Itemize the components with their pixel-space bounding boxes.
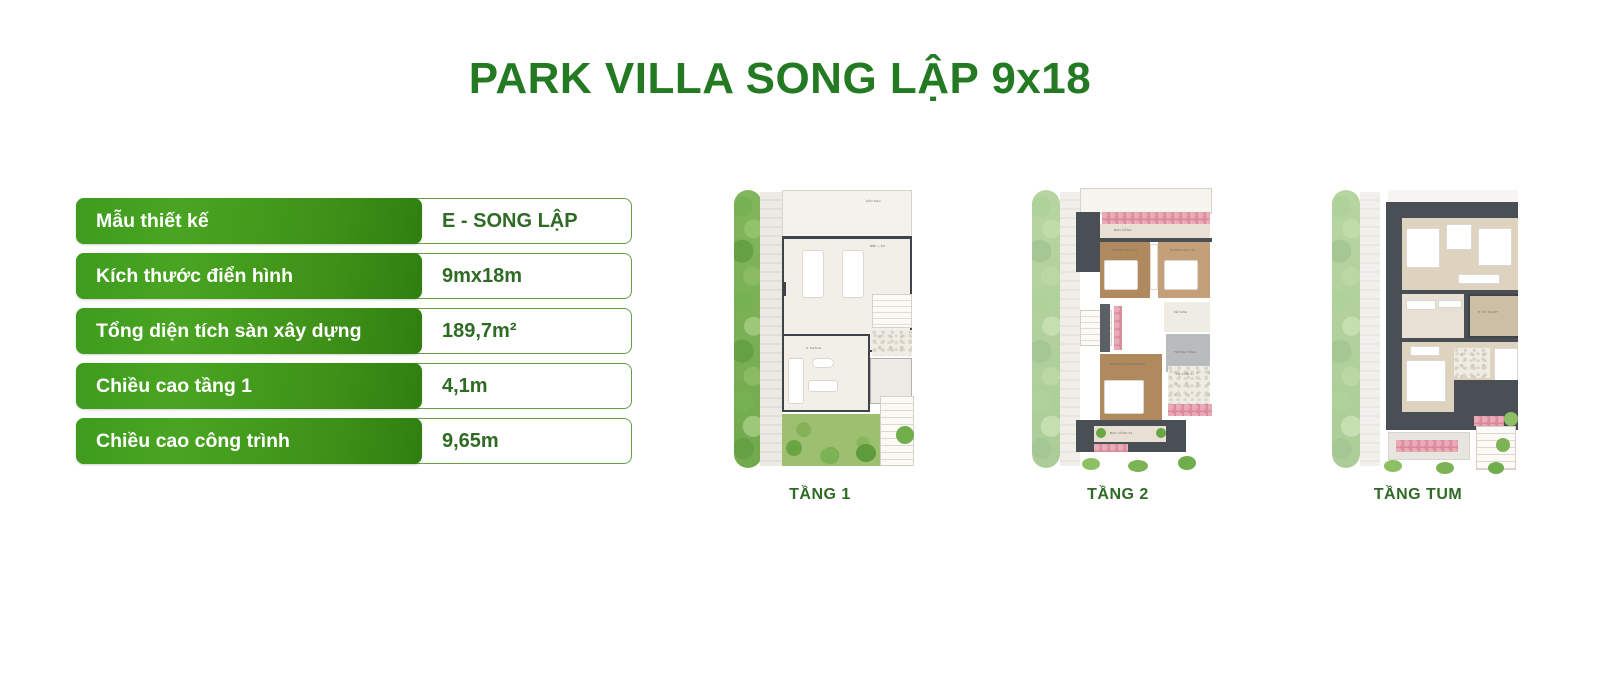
shrub [1156,428,1166,438]
furniture [1446,224,1472,250]
floor-plan-2-image: BAN CÔNG PHÒNG NGỦ 02 PHÒNG NGỦ 03 VỆ SI… [1018,182,1218,474]
floor-plan-gallery: SÂN SAU BẾP + ĂN P. KHÁCH [700,182,1580,522]
spec-label: Chiều cao công trình [76,418,422,464]
wall [1100,304,1110,352]
roof-edge [1080,188,1212,214]
floor-plan-3-image: P. KỸ THUẬT [1318,182,1518,474]
room-label: P. KHÁCH [806,346,821,350]
furniture [1438,300,1462,308]
furniture [1406,300,1436,310]
spec-value: E - SONG LẬP [442,198,578,244]
floor-plan-1-caption: TẦNG 1 [720,486,920,504]
bed [1104,380,1144,414]
roof-edge [1388,190,1518,202]
shrub [1128,460,1148,472]
spec-label: Tổng diện tích sàn xây dựng [76,308,422,354]
table-row: Mẫu thiết kế E - SONG LẬP [76,198,632,244]
planter-strip [1474,416,1504,426]
room-label: PHÒNG NGỦ MASTER [1110,362,1145,366]
shrub [896,426,914,444]
table-row: Chiều cao công trình 9,65m [76,418,632,464]
technical-room [1468,294,1518,338]
furniture [1406,360,1446,402]
shrub [1504,412,1518,426]
spec-value: 189,7m² [442,308,517,354]
roof-slab [1454,380,1518,416]
furniture [1478,228,1512,266]
bathroom [1164,302,1210,332]
coffee-table [812,358,834,368]
wall [782,236,912,239]
room-label: BẾP + ĂN [870,244,885,248]
shrub [1488,462,1504,474]
furniture [1410,346,1440,356]
shrub [1384,460,1402,472]
planter-strip [1094,444,1128,452]
furniture [1406,228,1440,268]
shrub [820,448,838,464]
balcony-planter [1102,212,1210,224]
walkway [760,192,782,466]
room-label: BAN CÔNG [1114,228,1132,232]
room-label: P. KỸ THUẬT [1478,310,1498,314]
room-label: SÂN SAU [866,199,881,203]
wall [782,282,786,296]
hedge-row [734,190,762,468]
spec-value: 9mx18m [442,253,522,299]
furniture [1458,274,1500,284]
roof-slab [1076,212,1100,272]
wardrobe [1150,244,1158,290]
walkway [1360,192,1380,466]
shrub [1178,456,1196,470]
page-root: PARK VILLA SONG LẬP 9x18 Mẫu thiết kế E … [0,0,1600,685]
tv-cabinet [808,380,838,392]
balcony-planter [1168,404,1212,416]
furniture [1494,348,1518,382]
room-label: BAN CÔNG 01 [1110,431,1132,435]
shrub [1496,438,1510,452]
spec-value: 4,1m [442,363,488,409]
sofa [788,358,804,404]
spec-table: Mẫu thiết kế E - SONG LẬP Kích thước điể… [76,198,632,473]
staircase [872,294,912,328]
kitchen-counter [842,250,864,298]
spec-label: Mẫu thiết kế [76,198,422,244]
hedge-row [1332,190,1360,468]
bed [1104,260,1138,290]
planter-strip [1114,306,1122,350]
room-label: VỆ SINH [1174,310,1187,314]
floor-plan-1: SÂN SAU BẾP + ĂN P. KHÁCH [720,182,920,474]
dining-table [802,250,824,298]
spec-label: Chiều cao tầng 1 [76,363,422,409]
floor-plan-1-image: SÂN SAU BẾP + ĂN P. KHÁCH [720,182,920,474]
shrub [786,440,802,456]
room-label: VỆ SINH 01 [1176,372,1194,376]
floor-plan-2: BAN CÔNG PHÒNG NGỦ 02 PHÒNG NGỦ 03 VỆ SI… [1018,182,1218,474]
shrub [856,444,876,462]
room-label: PHÒNG NGỦ 03 [1170,248,1195,252]
shrub [1096,428,1106,438]
bathroom [1454,348,1490,378]
floor-plan-3-caption: TẦNG TUM [1318,486,1518,504]
hedge-row [1032,190,1060,468]
bed [1164,260,1198,290]
page-title: PARK VILLA SONG LẬP 9x18 [0,54,1560,104]
room-label: PHÒNG NGỦ 02 [1112,248,1137,252]
gravel-court [872,330,912,356]
spec-value: 9,65m [442,418,499,464]
spec-label: Kích thước điển hình [76,253,422,299]
floor-plan-3: P. KỸ THUẬT TẦNG TUM [1318,182,1518,474]
shrub [1436,462,1454,474]
rear-yard [782,190,912,238]
table-row: Kích thước điển hình 9mx18m [76,253,632,299]
planter-strip [1396,440,1458,452]
shrub [1082,458,1100,470]
room-label: THÔNG TẦNG [1174,350,1196,354]
table-row: Chiều cao tầng 1 4,1m [76,363,632,409]
table-row: Tổng diện tích sàn xây dựng 189,7m² [76,308,632,354]
floor-plan-2-caption: TẦNG 2 [1018,486,1218,504]
